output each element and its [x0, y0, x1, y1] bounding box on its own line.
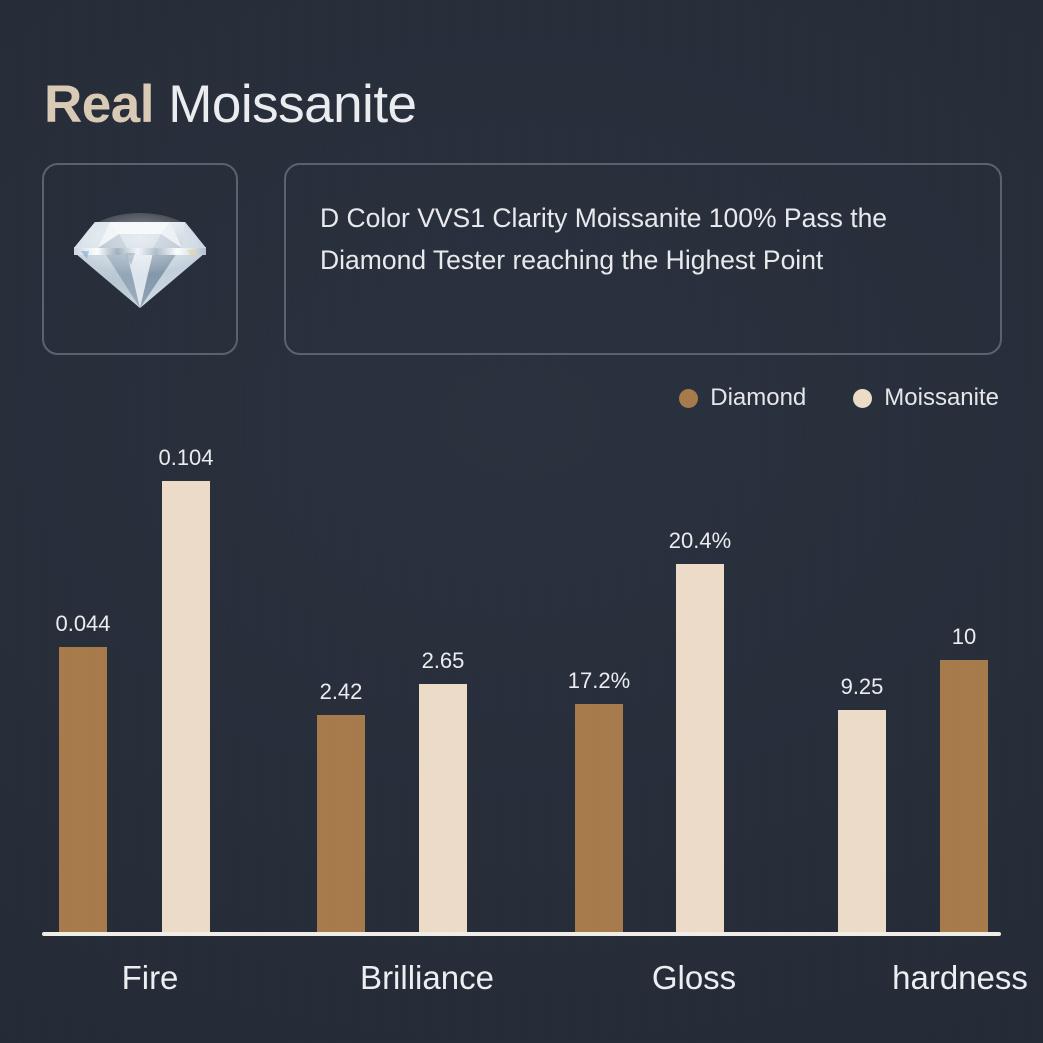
hero-row: D Color VVS1 Clarity Moissanite 100% Pas… — [42, 163, 1002, 357]
category-label-fire: Fire — [122, 958, 179, 998]
bar-fire-moissanite — [162, 481, 210, 932]
bar-value-label: 0.104 — [136, 447, 236, 469]
legend-label-moissanite: Moissanite — [884, 386, 999, 410]
diamond-icon — [65, 207, 215, 311]
bar-hardness-moissanite — [838, 710, 886, 932]
bar-value-label: 10 — [914, 626, 1014, 648]
legend-dot-moissanite — [853, 389, 872, 408]
category-label-gloss: Gloss — [652, 958, 736, 998]
legend-dot-diamond — [679, 389, 698, 408]
category-label-hardness: hardness — [892, 958, 1028, 998]
bar-value-label: 9.25 — [812, 676, 912, 698]
category-label-brilliance: Brilliance — [360, 958, 494, 998]
legend-item-diamond[interactable]: Diamond — [679, 386, 806, 410]
bar-value-label: 2.42 — [291, 681, 391, 703]
bar-value-label: 17.2% — [549, 670, 649, 692]
page-title-accent: Real — [44, 75, 154, 134]
description-card: D Color VVS1 Clarity Moissanite 100% Pas… — [284, 163, 1002, 355]
legend-item-moissanite[interactable]: Moissanite — [853, 386, 999, 410]
page-title: Real Moissanite — [44, 74, 417, 136]
page-title-plain: Moissanite — [168, 75, 416, 134]
poster-canvas: Real Moissanite — [0, 0, 1043, 1043]
chart-plot-area: 0.0440.1042.422.6517.2%20.4%9.2510 — [42, 430, 1001, 932]
bar-hardness-diamond — [940, 660, 988, 932]
description-text: D Color VVS1 Clarity Moissanite 100% Pas… — [320, 197, 972, 281]
chart-legend: Diamond Moissanite — [679, 386, 999, 410]
bar-fire-diamond — [59, 647, 107, 932]
bar-gloss-moissanite — [676, 564, 724, 932]
legend-label-diamond: Diamond — [710, 386, 806, 410]
bar-value-label: 20.4% — [650, 530, 750, 552]
bar-value-label: 0.044 — [33, 613, 133, 635]
bar-brilliance-diamond — [317, 715, 365, 932]
chart-category-labels: FireBrillianceGlosshardness — [42, 958, 1001, 1008]
bar-gloss-diamond — [575, 704, 623, 932]
diamond-thumbnail-card[interactable] — [42, 163, 238, 355]
chart-baseline-axis — [42, 932, 1001, 936]
comparison-bar-chart: 0.0440.1042.422.6517.2%20.4%9.2510 FireB… — [42, 430, 1001, 935]
bar-brilliance-moissanite — [419, 684, 467, 932]
bar-value-label: 2.65 — [393, 650, 493, 672]
